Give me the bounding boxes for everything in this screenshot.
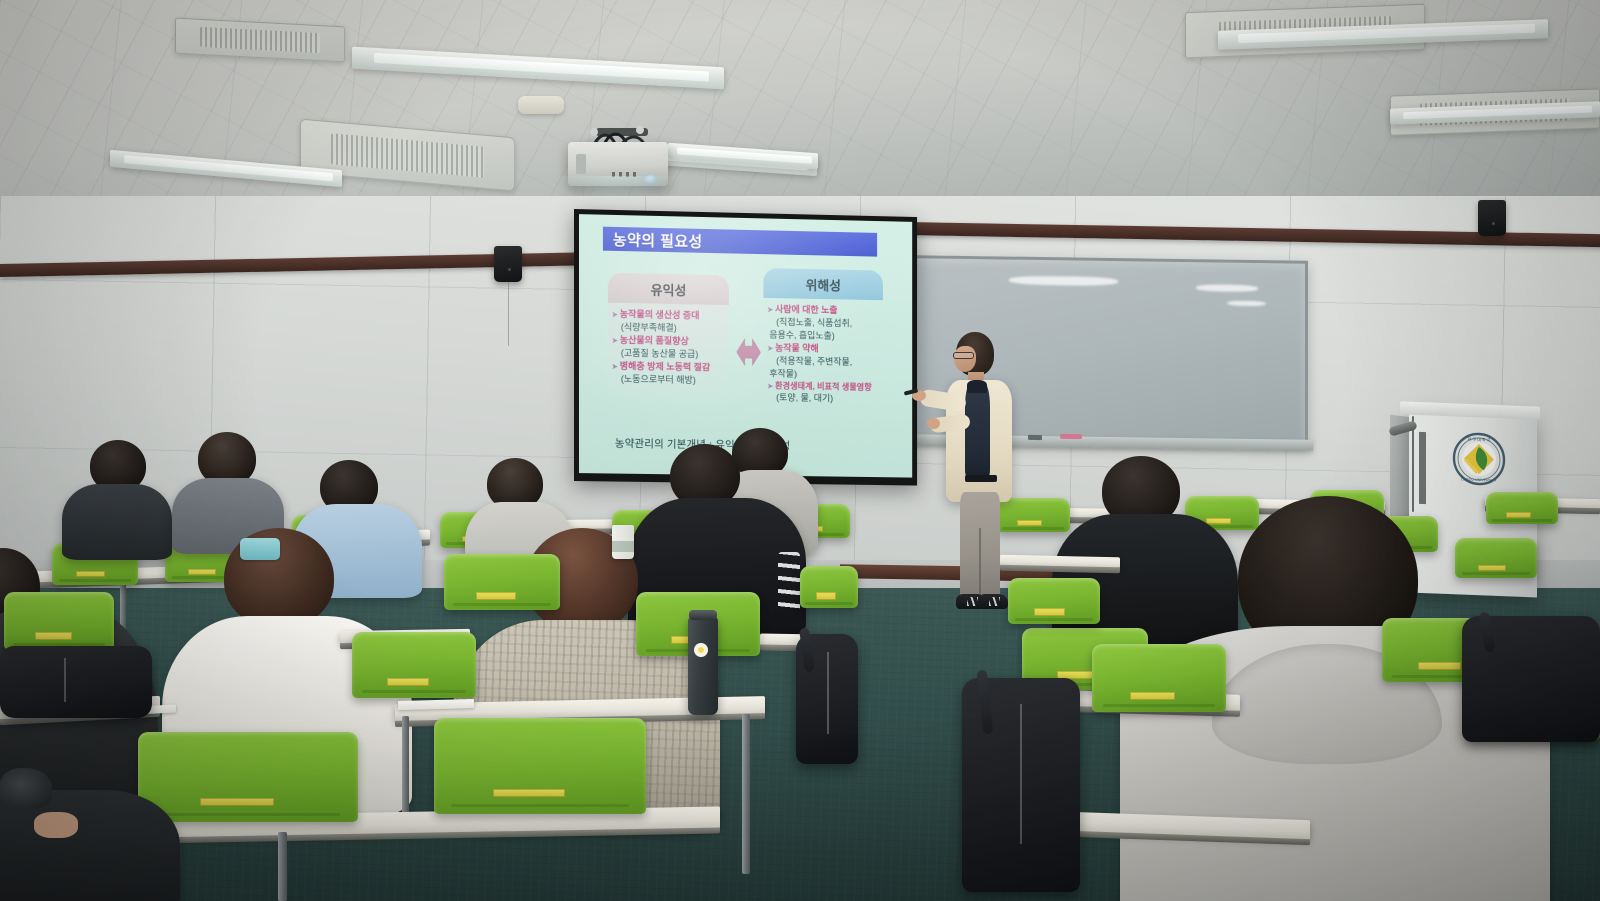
- lecturer-shoe: [978, 594, 1008, 609]
- backpack: [796, 634, 858, 764]
- projector-beam-glow: [556, 176, 680, 198]
- lecture-hall-photo: 농약의 필요성 유익성 농작물의 생산성 증대 (식량부족해결) 농산물의 품질…: [0, 0, 1600, 901]
- lecturer: [938, 332, 1020, 622]
- chair[interactable]: [800, 566, 858, 608]
- chair[interactable]: [4, 592, 114, 650]
- desk-leg: [278, 832, 287, 901]
- travel-tumbler: [688, 617, 718, 715]
- lecturer-collar: [967, 380, 987, 393]
- chair[interactable]: [434, 718, 646, 814]
- slide-title: 농약의 필요성: [603, 228, 703, 251]
- whiteboard-eraser: [1028, 435, 1042, 440]
- paper-cup: [612, 525, 634, 559]
- bidirectional-arrow-icon: [736, 335, 762, 369]
- student: [62, 440, 172, 555]
- backpack: [962, 678, 1080, 892]
- column-header-benefit: 유익성: [608, 273, 729, 305]
- smoke-detector: [518, 96, 564, 114]
- hand: [34, 812, 78, 838]
- backpack: [0, 646, 152, 718]
- hair-clip: [240, 538, 280, 560]
- column-body-benefit: 농작물의 생산성 증대 (식량부족해결) 농산물의 품질향상 (고품질 농산물 …: [608, 303, 729, 393]
- slide-subtext: (노동으로부터 해방): [612, 372, 725, 387]
- chair[interactable]: [352, 632, 476, 698]
- slide-column-benefit: 유익성 농작물의 생산성 증대 (식량부족해결) 농산물의 품질향상 (고품질 …: [608, 273, 729, 393]
- slide-subtext: 후작물): [767, 367, 879, 382]
- university-emblem-icon: 대 구 대 학 교 DAEGU UNIVERSITY: [1452, 431, 1506, 487]
- svg-text:대 구 대 학 교: 대 구 대 학 교: [1468, 436, 1491, 443]
- column-body-risk: 사람에 대한 노출 (직접노출, 식품섭취, 음용수, 흡입노출) 농작물 약해…: [763, 298, 883, 412]
- eyeglasses-on-desk: [0, 768, 52, 808]
- backpack: [1462, 616, 1600, 742]
- lecturer-face: [954, 346, 976, 372]
- podium-slot: [1419, 432, 1426, 504]
- svg-text:DAEGU UNIVERSITY: DAEGU UNIVERSITY: [1461, 477, 1497, 482]
- chair[interactable]: [1092, 644, 1226, 712]
- column-header-risk: 위해성: [763, 268, 883, 300]
- chair[interactable]: [444, 554, 560, 610]
- speaker-wire-left: [508, 282, 509, 346]
- lecturer-belt: [965, 475, 997, 482]
- lecturer-vest: [965, 382, 990, 477]
- chair[interactable]: [1008, 578, 1100, 624]
- desk-leg: [742, 714, 750, 874]
- wall-speaker-left: [494, 246, 522, 282]
- slide-subtext: (토양, 물, 대기): [767, 392, 879, 407]
- eyeglasses-icon: [953, 352, 974, 359]
- slide-title-bar: 농약의 필요성: [603, 227, 877, 257]
- slide-column-risk: 위해성 사람에 대한 노출 (직접노출, 식품섭취, 음용수, 흡입노출) 농작…: [763, 268, 883, 412]
- whiteboard-marker: [1060, 434, 1082, 439]
- wall-speaker-right: [1478, 200, 1506, 236]
- lecturer-hand: [927, 418, 940, 429]
